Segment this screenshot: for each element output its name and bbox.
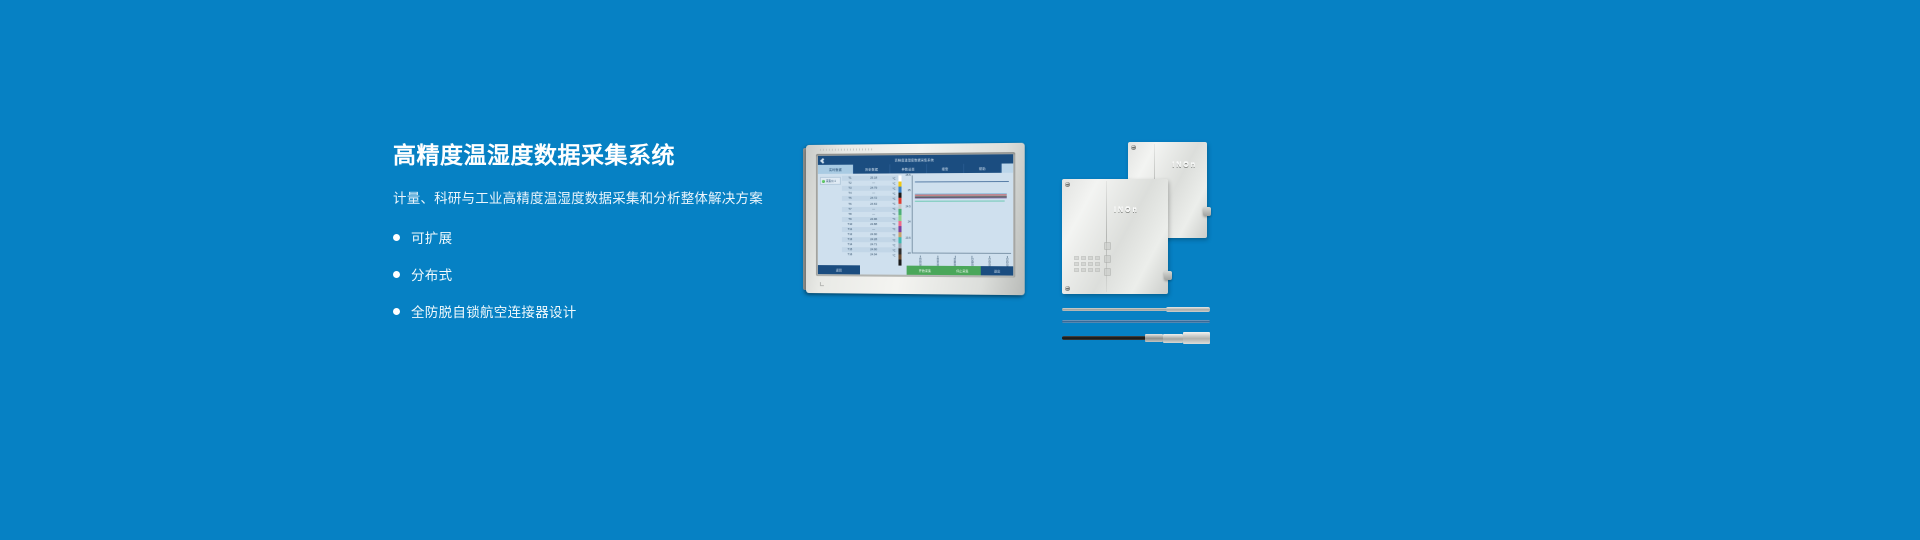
channel-unit: ℃ — [889, 202, 898, 206]
device-chin — [816, 278, 1015, 292]
channel-unit: ℃ — [889, 238, 898, 242]
temperature-probe-stainless — [1062, 305, 1210, 313]
channel-id: T4 — [842, 192, 858, 195]
screw-icon — [1065, 286, 1070, 291]
device-bezel: 高精度温湿度数据采集系统 实时数据 历史数据 参数设置 报警 帮助 — [806, 143, 1025, 295]
list-item: 可扩展 — [393, 227, 813, 247]
list-item: 分布式 — [393, 264, 813, 284]
trend-chart[interactable]: 25.52524.52423.523 10:02:0010:04:0010:06… — [902, 173, 1014, 267]
channel-value: 24.90 — [858, 249, 889, 252]
channel-value: 24.94 — [858, 254, 889, 257]
chart-series-line — [915, 181, 1009, 182]
channel-id: T16 — [842, 254, 858, 257]
channel-unit: ℃ — [889, 222, 898, 226]
channel-id: T5 — [842, 197, 858, 200]
channel-unit: ℃ — [889, 253, 898, 257]
connector-head — [1183, 332, 1210, 344]
chart-y-tick: 25.5 — [906, 174, 911, 177]
stop-capture-button[interactable]: 停止采集 — [944, 266, 982, 275]
channel-unit: ℃ — [889, 181, 898, 185]
channel-value: 24.28 — [858, 238, 889, 241]
device-chin-mark — [820, 282, 824, 286]
screw-icon — [1065, 182, 1070, 187]
channel-id: T10 — [842, 223, 858, 226]
brand-logo: INOn — [1114, 207, 1139, 214]
channel-unit: ℃ — [889, 176, 898, 180]
device-node-label: 采集仪-1 — [826, 179, 836, 183]
channel-id: T14 — [842, 243, 858, 246]
page-title: 高精度温湿度数据采集系统 — [393, 142, 813, 170]
chart-y-tick: 24 — [908, 221, 911, 224]
chart-y-tick: 24.5 — [906, 205, 911, 208]
bullet-dot-icon — [393, 308, 400, 315]
channel-unit: ℃ — [889, 248, 898, 252]
page-subtitle: 计量、科研与工业高精度温湿度数据采集和分析整体解决方案 — [393, 190, 813, 208]
window-titlebar: 高精度温湿度数据采集系统 — [818, 154, 1013, 165]
tab-help[interactable]: 帮助 — [964, 164, 1001, 173]
channel-value: 24.72 — [858, 197, 889, 200]
module-connector — [1203, 207, 1211, 216]
chart-y-axis: 25.52524.52423.523 — [902, 175, 913, 253]
channel-id: T3 — [842, 187, 858, 190]
channel-id: T2 — [842, 182, 858, 185]
back-button[interactable]: 返回 — [818, 265, 860, 274]
tab-bar-filler — [1002, 163, 1014, 172]
screw-icon — [1131, 145, 1136, 150]
chart-x-tick: 10:02:00 — [919, 258, 922, 266]
channel-value: 24.96 — [858, 218, 889, 221]
channel-value: 24.88 — [858, 223, 889, 226]
chart-x-tick: 10:12:00 — [1005, 258, 1008, 266]
chart-x-tick: 10:04:00 — [936, 258, 939, 266]
channel-value: --- — [858, 182, 889, 185]
feature-list: 可扩展 分布式 全防脱自锁航空连接器设计 — [393, 227, 813, 321]
feature-label: 分布式 — [411, 264, 452, 284]
probe-shaft — [1062, 308, 1169, 311]
channel-id: T9 — [842, 218, 858, 221]
start-capture-button[interactable]: 开始采集 — [907, 266, 944, 275]
sensor-probes — [1062, 305, 1210, 350]
chart-series-line — [915, 197, 1007, 198]
channel-value: --- — [858, 228, 889, 231]
aviation-connector-probe — [1062, 331, 1210, 345]
module-label-grid — [1074, 256, 1100, 272]
channel-value: 24.63 — [858, 202, 889, 205]
channel-unit: ℃ — [889, 228, 898, 232]
channel-id: T1 — [842, 177, 858, 180]
status-indicator-icon — [822, 179, 825, 182]
channel-value: --- — [858, 213, 889, 216]
product-banner: 高精度温湿度数据采集系统 计量、科研与工业高精度温湿度数据采集和分析整体解决方案… — [0, 0, 1920, 540]
footer-spacer — [860, 265, 906, 274]
channel-unit: ℃ — [889, 207, 898, 211]
channel-value: 24.90 — [858, 233, 889, 236]
channel-id: T7 — [842, 208, 858, 211]
channel-id: T8 — [842, 213, 858, 216]
channel-unit: ℃ — [889, 233, 898, 237]
bullet-dot-icon — [393, 234, 400, 241]
cable-body — [1062, 336, 1148, 340]
panel-pc-device: 高精度温湿度数据采集系统 实时数据 历史数据 参数设置 报警 帮助 — [806, 143, 1025, 295]
tab-alarm[interactable]: 报警 — [927, 164, 964, 173]
chart-y-tick: 25 — [908, 189, 911, 192]
chart-plot-area — [913, 175, 1011, 254]
channel-value: --- — [858, 207, 889, 210]
chart-x-tick: 10:06:00 — [953, 258, 956, 266]
channel-unit: ℃ — [889, 186, 898, 190]
channel-unit: ℃ — [889, 197, 898, 201]
module-port-column — [1104, 242, 1111, 276]
bullet-dot-icon — [393, 271, 400, 278]
chart-x-tick: 10:08:00 — [970, 258, 973, 266]
feature-label: 全防脱自锁航空连接器设计 — [411, 301, 577, 321]
hero-copy-block: 高精度温湿度数据采集系统 计量、科研与工业高精度温湿度数据采集和分析整体解决方案… — [393, 142, 813, 321]
channel-table[interactable]: T125.18℃T2---℃T324.79℃T4---℃T524.72℃T624… — [842, 173, 899, 265]
channel-value: 24.79 — [858, 187, 889, 190]
window-title: 高精度温湿度数据采集系统 — [818, 157, 1013, 163]
table-row[interactable]: T1624.94℃ — [842, 253, 899, 258]
probe-tip — [1166, 307, 1210, 312]
chart-x-tick: 10:10:00 — [988, 258, 991, 266]
device-vent — [820, 148, 874, 151]
module-connector — [1164, 271, 1172, 280]
channel-unit: ℃ — [889, 191, 898, 195]
tab-history-data[interactable]: 历史数据 — [854, 164, 890, 173]
channel-id: T13 — [842, 238, 858, 241]
device-screen: 高精度温湿度数据采集系统 实时数据 历史数据 参数设置 报警 帮助 — [818, 154, 1013, 275]
channel-value: 25.18 — [858, 177, 889, 180]
channel-id: T12 — [842, 233, 858, 236]
exit-button[interactable]: 退出 — [981, 266, 1013, 275]
channel-id: T15 — [842, 249, 858, 252]
chart-series-line — [915, 201, 1005, 202]
channel-unit: ℃ — [889, 243, 898, 247]
screen-body: 采集仪-1 T125.18℃T2---℃T324.79℃T4---℃T524.7… — [818, 173, 1013, 267]
tab-settings[interactable]: 参数设置 — [890, 164, 927, 173]
feature-label: 可扩展 — [411, 227, 452, 247]
sensor-cable-blue — [1062, 319, 1210, 324]
connector-nut — [1145, 334, 1163, 342]
channel-unit: ℃ — [889, 217, 898, 221]
acquisition-modules: INOn INOn — [1062, 142, 1207, 294]
screen-footer: 返回 开始采集 停止采集 退出 — [818, 265, 1013, 275]
chart-y-tick: 23.5 — [906, 236, 911, 239]
cable-body — [1062, 320, 1210, 323]
tab-realtime-data[interactable]: 实时数据 — [818, 165, 854, 174]
channel-value: 24.71 — [858, 243, 889, 246]
channel-id: T11 — [842, 228, 858, 231]
device-tree-panel: 采集仪-1 — [818, 174, 842, 265]
channel-unit: ℃ — [889, 212, 898, 216]
chart-x-axis: 10:02:0010:04:0010:06:0010:08:0010:10:00… — [913, 253, 1011, 266]
channel-value: --- — [858, 192, 889, 195]
channel-id: T6 — [842, 202, 858, 205]
brand-logo: INOn — [1172, 162, 1197, 169]
connector-body — [1163, 334, 1184, 343]
chart-y-tick: 23 — [908, 252, 911, 255]
screen-frame: 高精度温湿度数据采集系统 实时数据 历史数据 参数设置 报警 帮助 — [816, 152, 1015, 277]
module-front-unit: INOn — [1062, 179, 1168, 294]
device-node[interactable]: 采集仪-1 — [820, 177, 841, 185]
list-item: 全防脱自锁航空连接器设计 — [393, 301, 813, 321]
